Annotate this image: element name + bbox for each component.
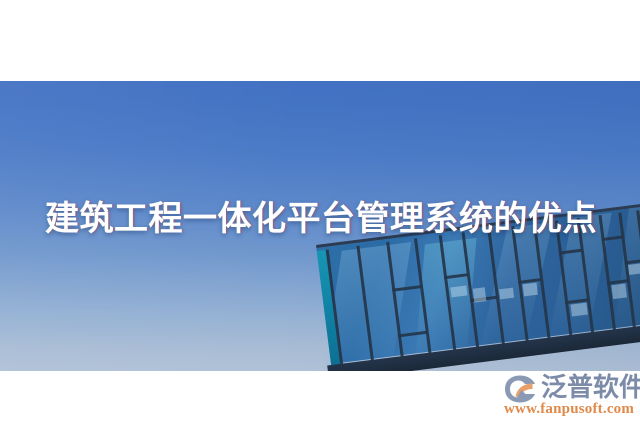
facade-transom	[559, 249, 582, 255]
banner-title: 建筑工程一体化平台管理系统的优点	[45, 199, 605, 239]
brand-logo[interactable]: 泛普软件 www.fanpusoft.com	[503, 373, 635, 417]
facade-mullion	[414, 238, 432, 354]
brand-url: www.fanpusoft.com	[504, 401, 634, 418]
facade-mullion	[356, 246, 374, 362]
window-glint	[628, 263, 640, 275]
window-glint	[473, 287, 487, 302]
window-glint	[523, 283, 538, 297]
facade-transom	[444, 273, 468, 279]
window-glint	[450, 285, 467, 297]
window-glint	[611, 284, 627, 300]
facade-transom	[398, 331, 427, 338]
banner-image: 建筑工程一体化平台管理系统的优点 泛普软件 www.fanpusoft.com	[0, 0, 640, 427]
fanpu-swoosh-logo-icon	[503, 375, 537, 403]
facade-mullion	[386, 242, 404, 358]
facade-mullion	[487, 229, 505, 345]
window-glint	[570, 303, 587, 317]
brand-name-cn: 泛普软件	[541, 372, 640, 402]
window-glint	[499, 288, 514, 300]
facade-transom	[392, 285, 421, 292]
